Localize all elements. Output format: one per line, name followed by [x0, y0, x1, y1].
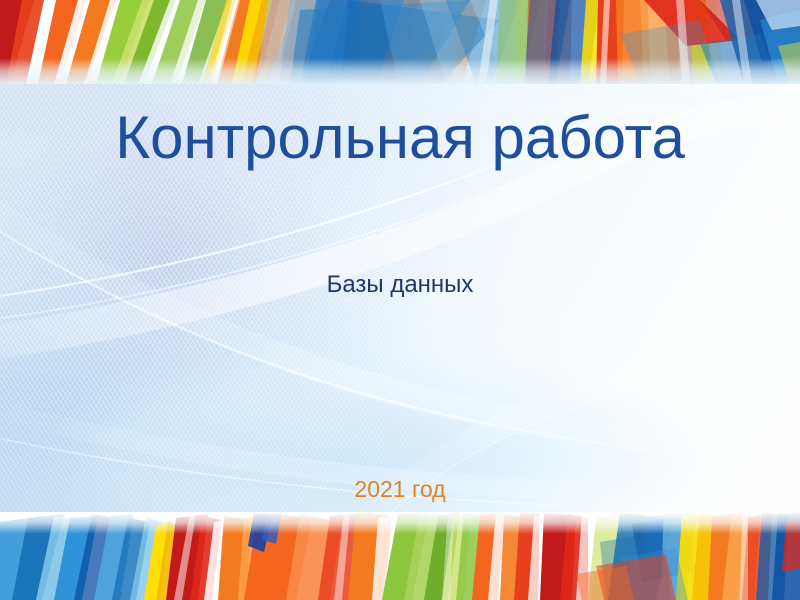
presentation-title-slide: Контрольная работа Базы данных 2021 год	[0, 0, 800, 600]
slide-year: 2021 год	[0, 477, 800, 502]
bottom-decorative-border	[0, 512, 800, 600]
background-swoosh-arcs	[0, 0, 800, 600]
top-decorative-border	[0, 0, 800, 84]
slide-subtitle: Базы данных	[0, 272, 800, 298]
bottom-border-shards	[0, 512, 800, 600]
top-border-shards	[0, 0, 800, 84]
slide-title: Контрольная работа	[0, 108, 800, 168]
